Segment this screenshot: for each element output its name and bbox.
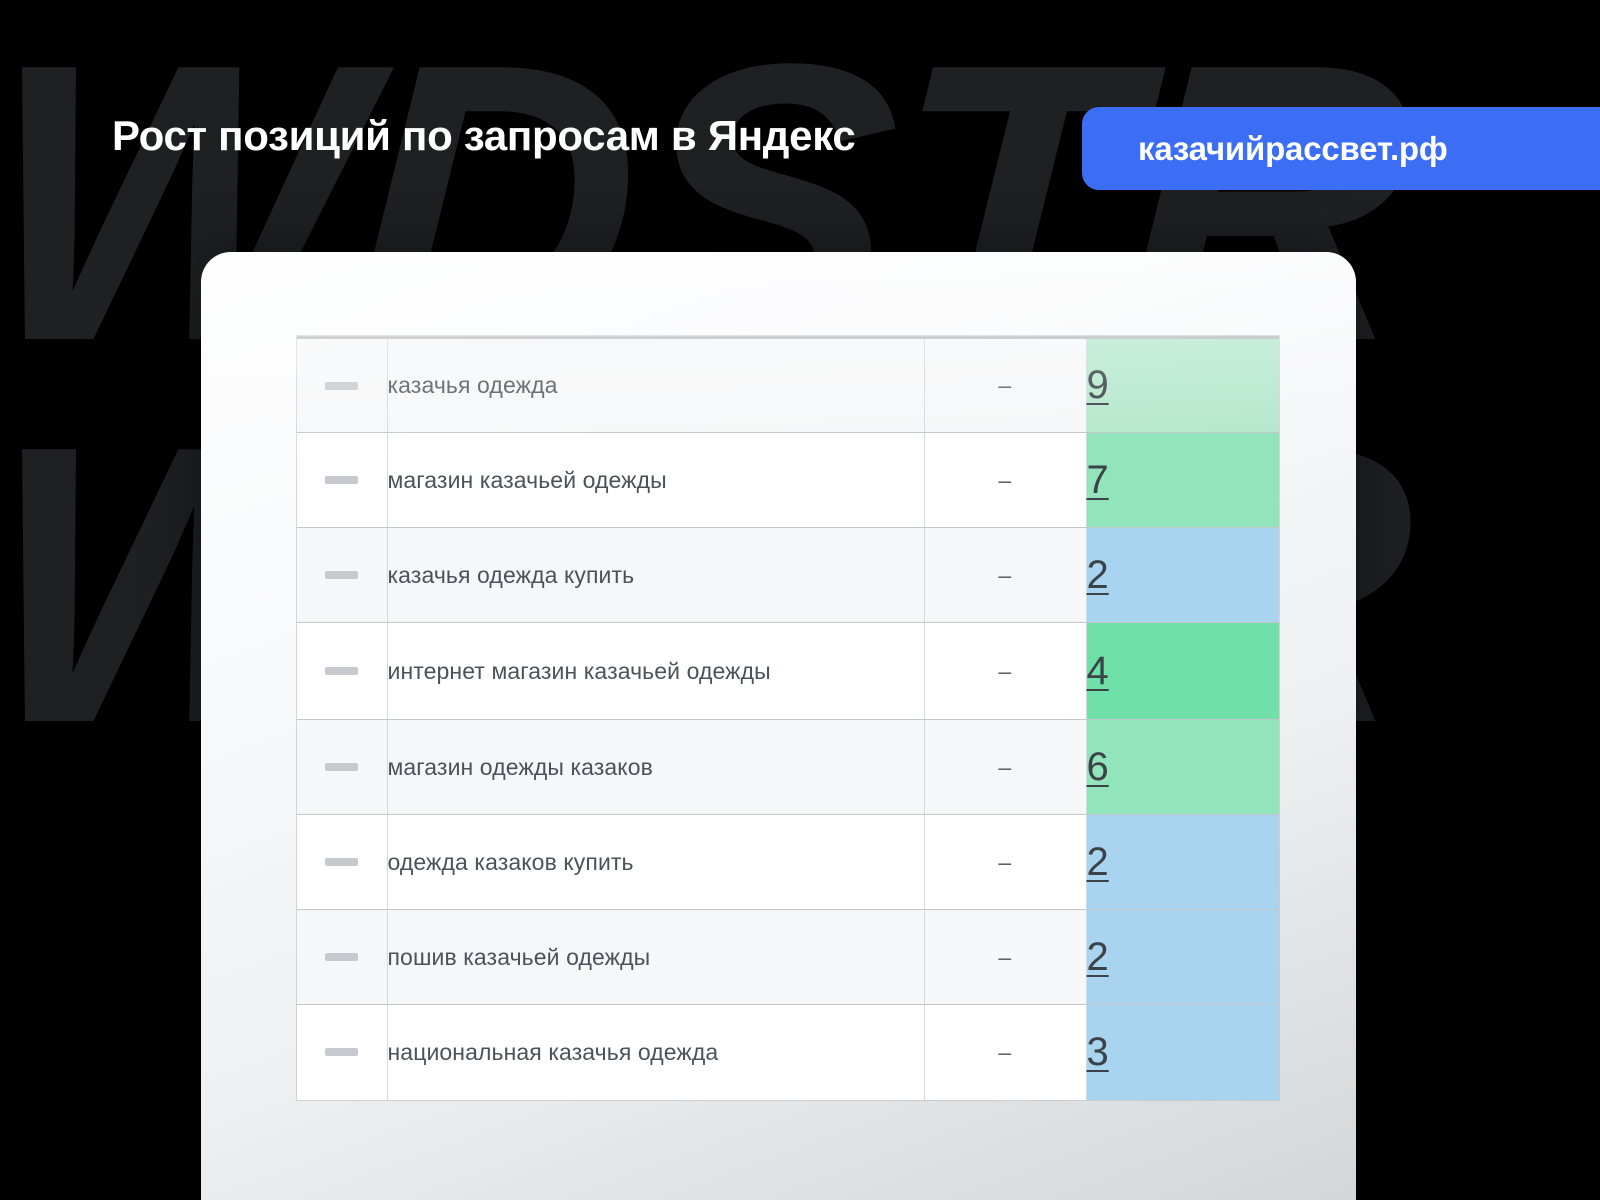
table-row[interactable]: магазин одежды казаков – 6 <box>297 720 1279 815</box>
row-marker-cell[interactable] <box>297 1005 387 1100</box>
table-row[interactable]: пошив казачьей одежды – 2 <box>297 910 1279 1005</box>
table-row[interactable]: национальная казачья одежда – 3 <box>297 1005 1279 1100</box>
position-value: 3 <box>1087 1030 1109 1074</box>
minus-dash-icon <box>325 1048 358 1056</box>
current-position-cell[interactable]: 2 <box>1086 528 1279 623</box>
current-position-cell[interactable]: 3 <box>1086 1005 1279 1100</box>
previous-position-cell: – <box>924 910 1086 1005</box>
keyword-rank-table: казачья одежда – 9 магазин казачьей одеж… <box>297 336 1279 1100</box>
query-cell[interactable]: интернет магазин казачьей одежды <box>387 623 924 720</box>
minus-dash-icon <box>325 763 358 771</box>
previous-position-cell: – <box>924 720 1086 815</box>
table-row[interactable]: казачья одежда – 9 <box>297 338 1279 433</box>
minus-dash-icon <box>325 953 358 961</box>
query-cell[interactable]: пошив казачьей одежды <box>387 910 924 1005</box>
position-value: 7 <box>1087 458 1109 502</box>
current-position-cell[interactable]: 6 <box>1086 720 1279 815</box>
row-marker-cell[interactable] <box>297 433 387 528</box>
previous-position-cell: – <box>924 528 1086 623</box>
position-value: 2 <box>1087 935 1109 979</box>
query-cell[interactable]: одежда казаков купить <box>387 815 924 910</box>
query-cell[interactable]: казачья одежда купить <box>387 528 924 623</box>
current-position-cell[interactable]: 7 <box>1086 433 1279 528</box>
row-marker-cell[interactable] <box>297 528 387 623</box>
screenshot-card: казачья одежда – 9 магазин казачьей одеж… <box>201 252 1356 1200</box>
table-row[interactable]: интернет магазин казачьей одежды – 4 <box>297 623 1279 720</box>
query-cell[interactable]: казачья одежда <box>387 338 924 433</box>
table-body: казачья одежда – 9 магазин казачьей одеж… <box>297 338 1279 1100</box>
minus-dash-icon <box>325 571 358 579</box>
current-position-cell[interactable]: 2 <box>1086 815 1279 910</box>
position-value: 9 <box>1087 363 1109 407</box>
domain-badge: казачийрассвет.рф <box>1082 107 1600 190</box>
previous-position-cell: – <box>924 1005 1086 1100</box>
row-marker-cell[interactable] <box>297 910 387 1005</box>
row-marker-cell[interactable] <box>297 815 387 910</box>
previous-position-cell: – <box>924 623 1086 720</box>
position-value: 4 <box>1087 649 1109 693</box>
minus-dash-icon <box>325 476 358 484</box>
previous-position-cell: – <box>924 433 1086 528</box>
table-row[interactable]: одежда казаков купить – 2 <box>297 815 1279 910</box>
position-value: 2 <box>1087 840 1109 884</box>
row-marker-cell[interactable] <box>297 338 387 433</box>
previous-position-cell: – <box>924 338 1086 433</box>
current-position-cell[interactable]: 9 <box>1086 338 1279 433</box>
minus-dash-icon <box>325 858 358 866</box>
minus-dash-icon <box>325 667 358 675</box>
minus-dash-icon <box>325 382 358 390</box>
current-position-cell[interactable]: 2 <box>1086 910 1279 1005</box>
query-cell[interactable]: национальная казачья одежда <box>387 1005 924 1100</box>
table-row[interactable]: магазин казачьей одежды – 7 <box>297 433 1279 528</box>
table-row[interactable]: казачья одежда купить – 2 <box>297 528 1279 623</box>
previous-position-cell: – <box>924 815 1086 910</box>
query-cell[interactable]: магазин одежды казаков <box>387 720 924 815</box>
row-marker-cell[interactable] <box>297 720 387 815</box>
page-title: Рост позиций по запросам в Яндекс <box>112 112 855 160</box>
row-marker-cell[interactable] <box>297 623 387 720</box>
query-cell[interactable]: магазин казачьей одежды <box>387 433 924 528</box>
position-value: 2 <box>1087 553 1109 597</box>
position-value: 6 <box>1087 745 1109 789</box>
current-position-cell[interactable]: 4 <box>1086 623 1279 720</box>
header: Рост позиций по запросам в Яндекс казачи… <box>0 0 1600 250</box>
